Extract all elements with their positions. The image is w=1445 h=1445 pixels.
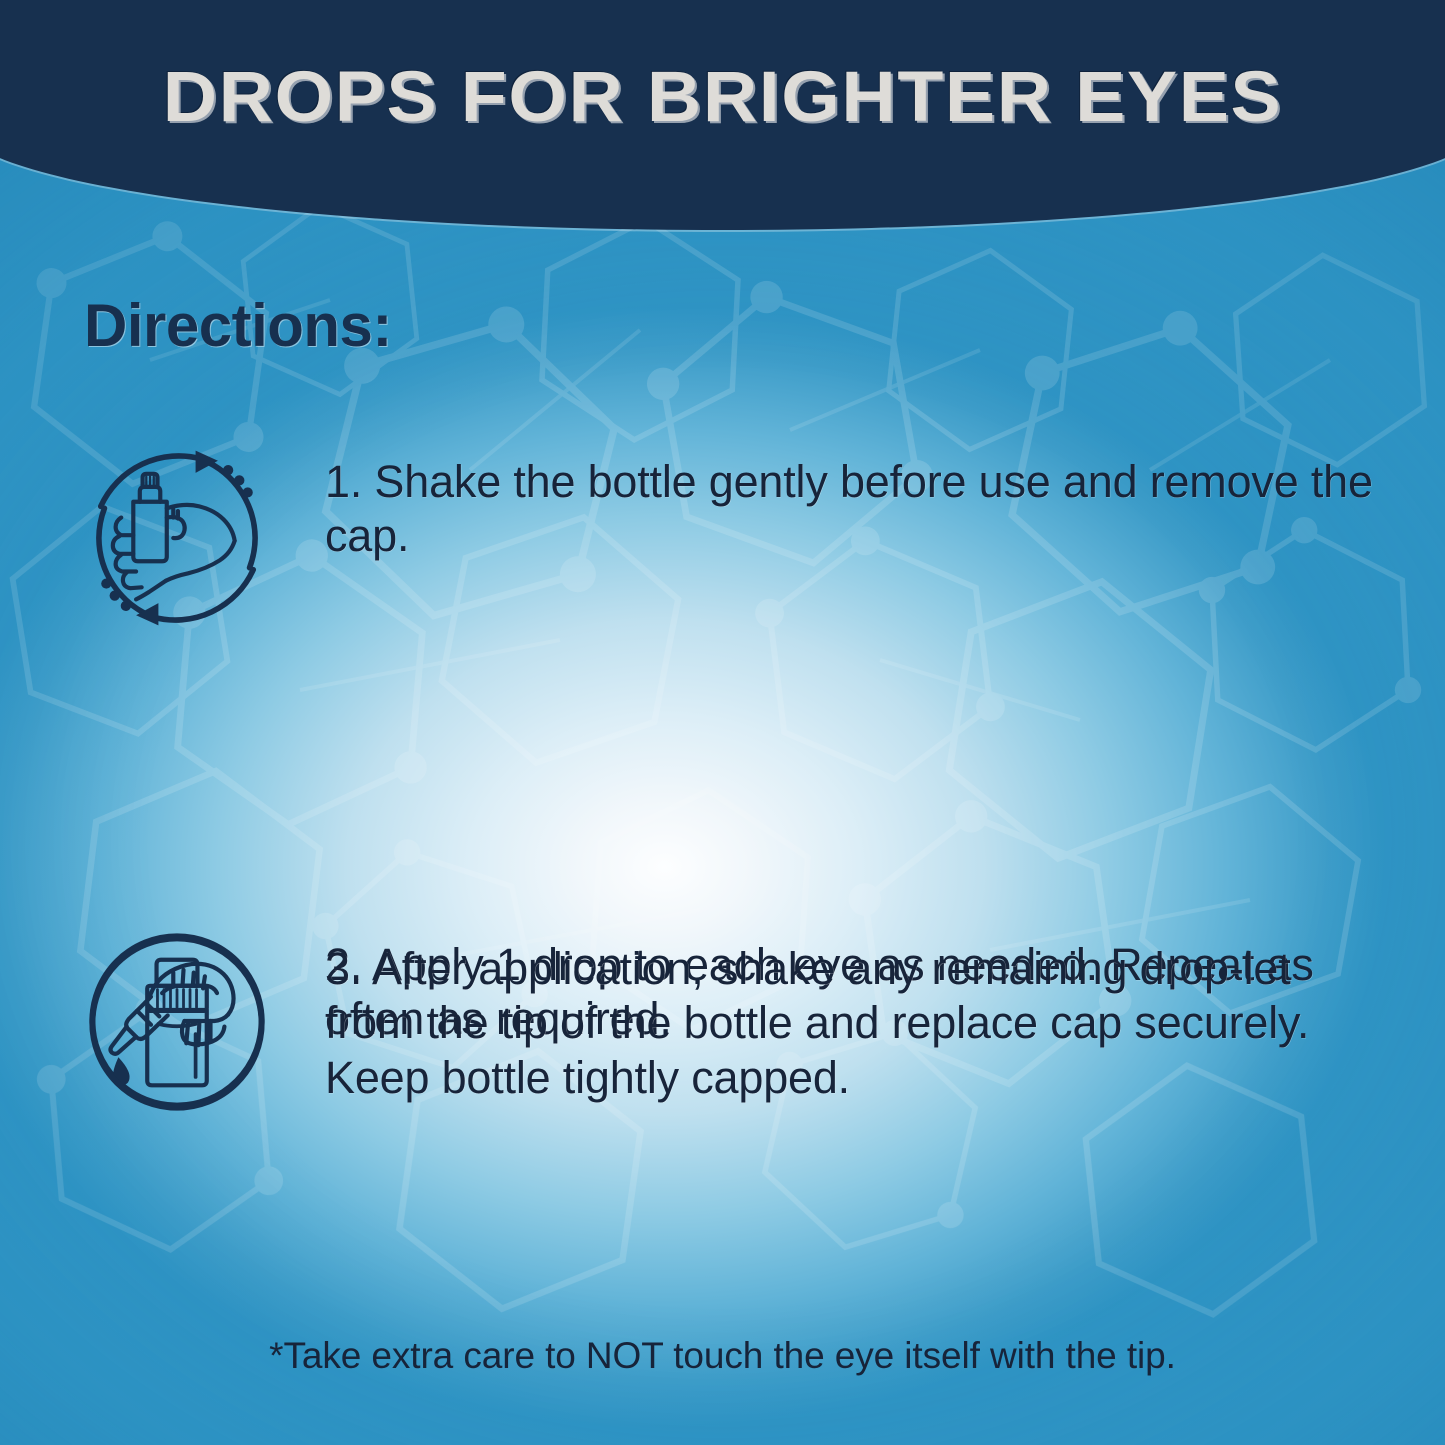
step-1-text: 1. Shake the bottle gently before use an… [325,455,1385,564]
footnote-warning: *Take extra care to NOT touch the eye it… [0,1335,1445,1377]
eye-drop-bottle-icon [84,930,270,1116]
background-vignette [0,0,1445,1445]
hand-shaking-bottle-icon [84,445,270,631]
product-directions-panel: DROPS FOR BRIGHTER EYES Directions: [0,0,1445,1445]
step-3-text: 3. After application, shake any remainin… [325,942,1385,1105]
directions-heading: Directions: [84,291,392,360]
